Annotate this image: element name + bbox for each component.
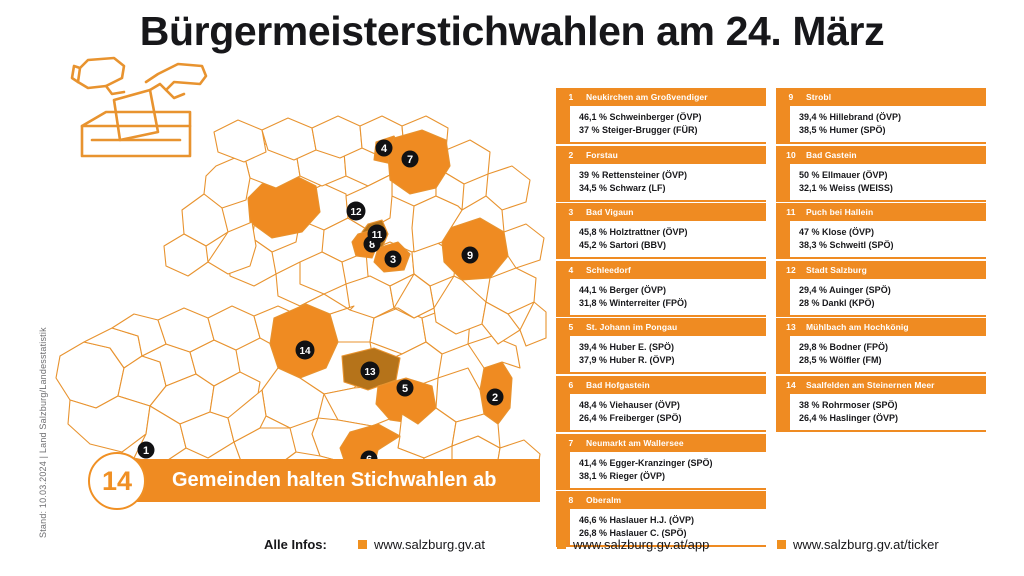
result-entry: 12Stadt Salzburg29,4 % Auinger (SPÖ)28 %… <box>776 261 986 317</box>
result-entry-number: 14 <box>776 380 806 390</box>
candidate-result: 50 % Ellmauer (ÖVP) <box>799 169 982 182</box>
result-entry-candidates: 39,4 % Hillebrand (ÖVP)38,5 % Humer (SPÖ… <box>790 106 986 142</box>
map-marker-label: 7 <box>407 154 413 166</box>
result-entry-header: 8Oberalm <box>556 491 766 509</box>
result-entry-number: 1 <box>556 92 586 102</box>
result-entry-body: 41,4 % Egger-Kranzinger (SPÖ)38,1 % Rieg… <box>556 452 766 490</box>
result-entry-stub <box>556 164 570 200</box>
result-entry-number: 3 <box>556 207 586 217</box>
square-bullet-icon <box>358 540 367 549</box>
result-entry-body: 39 % Rettensteiner (ÖVP)34,5 % Schwarz (… <box>556 164 766 202</box>
result-entry-number: 8 <box>556 495 586 505</box>
result-entry-body: 48,4 % Viehauser (ÖVP)26,4 % Freiberger … <box>556 394 766 432</box>
map-marker-label: 9 <box>467 250 473 262</box>
map-marker-label: 12 <box>350 207 362 218</box>
result-entry: 11Puch bei Hallein47 % Klose (ÖVP)38,3 %… <box>776 203 986 259</box>
result-entry-number: 9 <box>776 92 806 102</box>
result-entry-stub <box>776 279 790 315</box>
candidate-result: 46,6 % Haslauer H.J. (ÖVP) <box>579 514 762 527</box>
ballot-box-icon <box>62 48 212 168</box>
result-entry-stub <box>776 221 790 257</box>
candidate-result: 28,5 % Wölfler (FM) <box>799 354 982 367</box>
result-entry: 6Bad Hofgastein48,4 % Viehauser (ÖVP)26,… <box>556 376 766 432</box>
candidate-result: 38,3 % Schweitl (SPÖ) <box>799 239 982 252</box>
result-entry-stub <box>776 164 790 200</box>
result-entry-number: 13 <box>776 322 806 332</box>
result-entry-number: 7 <box>556 438 586 448</box>
result-entry-number: 4 <box>556 265 586 275</box>
result-entry-candidates: 47 % Klose (ÖVP)38,3 % Schweitl (SPÖ) <box>790 221 986 257</box>
map-marker-label: 1 <box>143 445 149 457</box>
map-marker-12: 12 <box>347 202 366 221</box>
candidate-result: 45,2 % Sartori (BBV) <box>579 239 762 252</box>
result-entry-candidates: 29,8 % Bodner (FPÖ)28,5 % Wölfler (FM) <box>790 336 986 372</box>
result-entry-header: 14Saalfelden am Steinernen Meer <box>776 376 986 394</box>
result-entry-candidates: 44,1 % Berger (ÖVP)31,8 % Winterreiter (… <box>570 279 766 315</box>
result-entry-stub <box>776 106 790 142</box>
result-entry-header: 2Forstau <box>556 146 766 164</box>
result-entry-candidates: 45,8 % Holztrattner (ÖVP)45,2 % Sartori … <box>570 221 766 257</box>
candidate-result: 28 % Dankl (KPÖ) <box>799 297 982 310</box>
map-marker-7: 7 <box>402 151 419 168</box>
map-marker-label: 14 <box>299 346 311 357</box>
result-entry-municipality: Oberalm <box>586 495 766 505</box>
map-marker-2: 2 <box>487 389 504 406</box>
result-entry-body: 39,4 % Huber E. (SPÖ)37,9 % Huber R. (ÖV… <box>556 336 766 374</box>
map-marker-1: 1 <box>138 442 155 459</box>
candidate-result: 46,1 % Schweinberger (ÖVP) <box>579 111 762 124</box>
footer-link-text: www.salzburg.gv.at/ticker <box>793 537 939 552</box>
map-marker-label: 4 <box>381 143 388 155</box>
result-entry-body: 29,8 % Bodner (FPÖ)28,5 % Wölfler (FM) <box>776 336 986 374</box>
result-entry: 4Schleedorf44,1 % Berger (ÖVP)31,8 % Win… <box>556 261 766 317</box>
result-entry-candidates: 50 % Ellmauer (ÖVP)32,1 % Weiss (WEISS) <box>790 164 986 200</box>
summary-banner-label: Gemeinden halten Stichwahlen ab <box>172 459 497 502</box>
result-entry-stub <box>556 279 570 315</box>
candidate-result: 38,5 % Humer (SPÖ) <box>799 124 982 137</box>
candidate-result: 48,4 % Viehauser (ÖVP) <box>579 399 762 412</box>
result-entry: 3Bad Vigaun45,8 % Holztrattner (ÖVP)45,2… <box>556 203 766 259</box>
result-entry-body: 45,8 % Holztrattner (ÖVP)45,2 % Sartori … <box>556 221 766 259</box>
result-entry-body: 50 % Ellmauer (ÖVP)32,1 % Weiss (WEISS) <box>776 164 986 202</box>
result-entry-header: 11Puch bei Hallein <box>776 203 986 221</box>
result-entry-municipality: St. Johann im Pongau <box>586 322 766 332</box>
result-entry-candidates: 39 % Rettensteiner (ÖVP)34,5 % Schwarz (… <box>570 164 766 200</box>
summary-count-badge: 14 <box>88 452 146 510</box>
footer-link-text: www.salzburg.gv.at/app <box>573 537 709 552</box>
square-bullet-icon <box>777 540 786 549</box>
map-marker-11: 11 <box>368 225 387 244</box>
result-entry: 10Bad Gastein50 % Ellmauer (ÖVP)32,1 % W… <box>776 146 986 202</box>
candidate-result: 26,4 % Haslinger (ÖVP) <box>799 412 982 425</box>
result-entry: 1Neukirchen am Großvendiger46,1 % Schwei… <box>556 88 766 144</box>
map-marker-label: 11 <box>372 230 383 241</box>
result-entry-municipality: Bad Gastein <box>806 150 986 160</box>
candidate-result: 29,4 % Auinger (SPÖ) <box>799 284 982 297</box>
candidate-result: 41,4 % Egger-Kranzinger (SPÖ) <box>579 457 762 470</box>
result-entry-number: 12 <box>776 265 806 275</box>
result-entry-number: 10 <box>776 150 806 160</box>
candidate-result: 37 % Steiger-Brugger (FÜR) <box>579 124 762 137</box>
result-entry-stub <box>776 394 790 430</box>
result-entry-stub <box>556 452 570 488</box>
result-entry-municipality: Neumarkt am Wallersee <box>586 438 766 448</box>
result-entry-body: 44,1 % Berger (ÖVP)31,8 % Winterreiter (… <box>556 279 766 317</box>
result-entry-number: 2 <box>556 150 586 160</box>
map-marker-label: 5 <box>402 383 408 395</box>
result-entry: 14Saalfelden am Steinernen Meer38 % Rohr… <box>776 376 986 432</box>
map-marker-label: 3 <box>390 254 396 266</box>
map-marker-3: 3 <box>385 251 402 268</box>
result-entry-candidates: 29,4 % Auinger (SPÖ)28 % Dankl (KPÖ) <box>790 279 986 315</box>
candidate-result: 26,4 % Freiberger (SPÖ) <box>579 412 762 425</box>
result-entry-body: 29,4 % Auinger (SPÖ)28 % Dankl (KPÖ) <box>776 279 986 317</box>
result-entry-municipality: Mühlbach am Hochkönig <box>806 322 986 332</box>
candidate-result: 34,5 % Schwarz (LF) <box>579 182 762 195</box>
result-entry-body: 47 % Klose (ÖVP)38,3 % Schweitl (SPÖ) <box>776 221 986 259</box>
result-entry: 5St. Johann im Pongau39,4 % Huber E. (SP… <box>556 318 766 374</box>
result-entry-header: 5St. Johann im Pongau <box>556 318 766 336</box>
result-entry-stub <box>556 221 570 257</box>
summary-banner: Gemeinden halten Stichwahlen ab <box>110 459 540 502</box>
result-entry-stub <box>556 394 570 430</box>
footer-link-text: www.salzburg.gv.at <box>374 537 485 552</box>
candidate-result: 44,1 % Berger (ÖVP) <box>579 284 762 297</box>
map-marker-5: 5 <box>397 380 414 397</box>
infographic-root: Bürgermeisterstichwahlen am 24. März Sta… <box>0 0 1024 576</box>
map-marker-9: 9 <box>462 247 479 264</box>
result-entry: 9Strobl39,4 % Hillebrand (ÖVP)38,5 % Hum… <box>776 88 986 144</box>
result-entry-candidates: 38 % Rohrmoser (SPÖ)26,4 % Haslinger (ÖV… <box>790 394 986 430</box>
map-marker-label: 13 <box>364 367 376 378</box>
result-entry-header: 3Bad Vigaun <box>556 203 766 221</box>
result-entry: 2Forstau39 % Rettensteiner (ÖVP)34,5 % S… <box>556 146 766 202</box>
footer-link-website[interactable]: www.salzburg.gv.at <box>358 534 485 556</box>
result-entry-number: 6 <box>556 380 586 390</box>
result-entry-candidates: 39,4 % Huber E. (SPÖ)37,9 % Huber R. (ÖV… <box>570 336 766 372</box>
candidate-result: 38,1 % Rieger (ÖVP) <box>579 470 762 483</box>
results-column-left: 1Neukirchen am Großvendiger46,1 % Schwei… <box>556 88 766 549</box>
result-entry-municipality: Stadt Salzburg <box>806 265 986 275</box>
map-marker-13: 13 <box>361 362 380 381</box>
result-entry-municipality: Forstau <box>586 150 766 160</box>
result-entry-header: 9Strobl <box>776 88 986 106</box>
result-entry-candidates: 48,4 % Viehauser (ÖVP)26,4 % Freiberger … <box>570 394 766 430</box>
result-entry: 13Mühlbach am Hochkönig29,8 % Bodner (FP… <box>776 318 986 374</box>
footer-link-app[interactable]: www.salzburg.gv.at/app <box>557 534 709 556</box>
candidate-result: 39,4 % Huber E. (SPÖ) <box>579 341 762 354</box>
square-bullet-icon <box>557 540 566 549</box>
footer-label: Alle Infos: <box>264 534 327 556</box>
result-entry-candidates: 41,4 % Egger-Kranzinger (SPÖ)38,1 % Rieg… <box>570 452 766 488</box>
result-entry-municipality: Strobl <box>806 92 986 102</box>
result-entry-candidates: 46,1 % Schweinberger (ÖVP)37 % Steiger-B… <box>570 106 766 142</box>
candidate-result: 37,9 % Huber R. (ÖVP) <box>579 354 762 367</box>
result-entry-header: 10Bad Gastein <box>776 146 986 164</box>
results-column-right: 9Strobl39,4 % Hillebrand (ÖVP)38,5 % Hum… <box>776 88 986 434</box>
candidate-result: 47 % Klose (ÖVP) <box>799 226 982 239</box>
footer: Alle Infos: www.salzburg.gv.at www.salzb… <box>0 534 1024 564</box>
map-marker-label: 2 <box>492 392 498 404</box>
result-entry-header: 1Neukirchen am Großvendiger <box>556 88 766 106</box>
result-entry-stub <box>556 336 570 372</box>
result-entry-municipality: Saalfelden am Steinernen Meer <box>806 380 986 390</box>
result-entry-body: 46,1 % Schweinberger (ÖVP)37 % Steiger-B… <box>556 106 766 144</box>
result-entry-municipality: Bad Hofgastein <box>586 380 766 390</box>
result-entry-municipality: Neukirchen am Großvendiger <box>586 92 766 102</box>
result-entry-header: 6Bad Hofgastein <box>556 376 766 394</box>
result-entry-number: 5 <box>556 322 586 332</box>
result-entry-body: 38 % Rohrmoser (SPÖ)26,4 % Haslinger (ÖV… <box>776 394 986 432</box>
result-entry: 7Neumarkt am Wallersee41,4 % Egger-Kranz… <box>556 434 766 490</box>
map-marker-4: 4 <box>376 140 393 157</box>
result-entry-stub <box>556 106 570 142</box>
footer-link-ticker[interactable]: www.salzburg.gv.at/ticker <box>777 534 939 556</box>
candidate-result: 29,8 % Bodner (FPÖ) <box>799 341 982 354</box>
candidate-result: 45,8 % Holztrattner (ÖVP) <box>579 226 762 239</box>
candidate-result: 39,4 % Hillebrand (ÖVP) <box>799 111 982 124</box>
candidate-result: 39 % Rettensteiner (ÖVP) <box>579 169 762 182</box>
result-entry-number: 11 <box>776 207 806 217</box>
candidate-result: 31,8 % Winterreiter (FPÖ) <box>579 297 762 310</box>
result-entry-municipality: Bad Vigaun <box>586 207 766 217</box>
map-marker-14: 14 <box>296 341 315 360</box>
result-entry-municipality: Puch bei Hallein <box>806 207 986 217</box>
candidate-result: 38 % Rohrmoser (SPÖ) <box>799 399 982 412</box>
result-entry-header: 13Mühlbach am Hochkönig <box>776 318 986 336</box>
result-entry-header: 12Stadt Salzburg <box>776 261 986 279</box>
result-entry-stub <box>776 336 790 372</box>
result-entry-header: 4Schleedorf <box>556 261 766 279</box>
result-entry-body: 39,4 % Hillebrand (ÖVP)38,5 % Humer (SPÖ… <box>776 106 986 144</box>
result-entry-header: 7Neumarkt am Wallersee <box>556 434 766 452</box>
result-entry-municipality: Schleedorf <box>586 265 766 275</box>
candidate-result: 32,1 % Weiss (WEISS) <box>799 182 982 195</box>
